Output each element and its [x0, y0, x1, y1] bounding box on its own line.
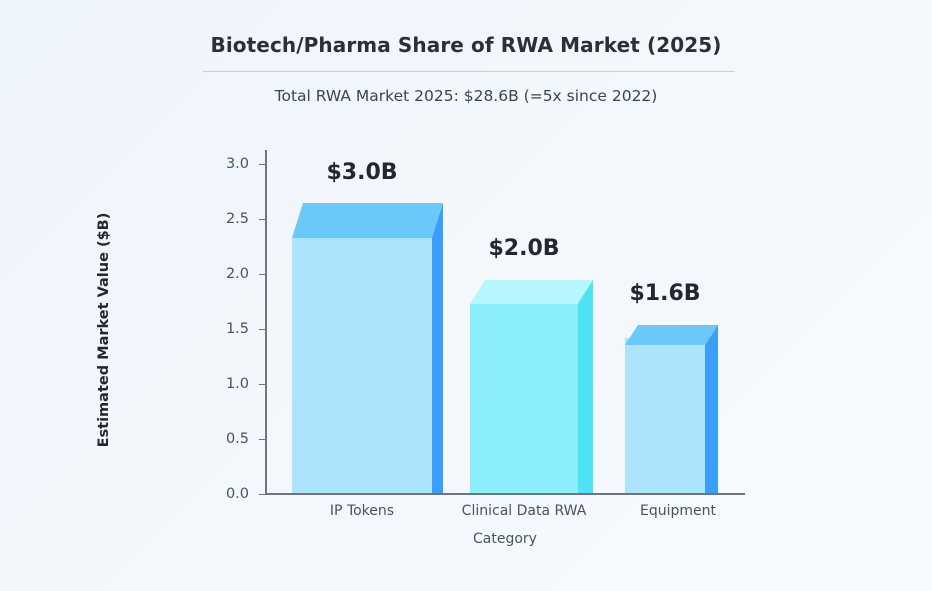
y-tick-2.5: 2.5 — [259, 219, 265, 221]
y-tick-label-0.0: 0.0 — [226, 486, 249, 502]
bar-top-face-3 — [625, 325, 718, 345]
bar-value-label-1: $3.0B — [326, 160, 397, 185]
y-axis-spine — [265, 150, 267, 494]
y-tick-1.5: 1.5 — [259, 329, 265, 331]
y-tick-label-0.5: 0.5 — [226, 431, 249, 447]
bar-side-face-2 — [578, 280, 593, 493]
bar-equipment[interactable]: $1.6B — [625, 325, 705, 493]
y-tick-label-3.0: 3.0 — [226, 156, 249, 172]
bar-value-label-2: $2.0B — [488, 236, 559, 261]
bar-ip-tokens[interactable]: $3.0B — [292, 203, 432, 493]
chart-title: Biotech/Pharma Share of RWA Market (2025… — [0, 33, 932, 57]
bar-clinical-data-rwa[interactable]: $2.0B — [470, 280, 578, 493]
y-tick-1.0: 1.0 — [259, 384, 265, 386]
y-tick-label-2.0: 2.0 — [226, 266, 249, 282]
category-label-equipment: Equipment — [640, 502, 716, 521]
x-axis-spine — [265, 493, 745, 495]
bar-value-label-3: $1.6B — [629, 281, 700, 306]
y-tick-2.0: 2.0 — [259, 274, 265, 276]
y-tick-label-2.5: 2.5 — [226, 211, 249, 227]
title-divider — [203, 71, 735, 72]
y-tick-0.5: 0.5 — [259, 439, 265, 441]
bar-front-face-2 — [470, 304, 578, 493]
bar-top-face-2 — [470, 280, 593, 304]
chart-figure: Biotech/Pharma Share of RWA Market (2025… — [0, 0, 932, 591]
y-tick-label-1.0: 1.0 — [226, 376, 249, 392]
chart-subtitle: Total RWA Market 2025: $28.6B (=5x since… — [0, 87, 932, 105]
plot-area: 3.0 2.5 2.0 1.5 1.0 0.5 0.0 $3.0B IP Tok… — [265, 150, 745, 494]
bar-side-face-3 — [705, 325, 718, 493]
y-axis-label: Estimated Market Value ($B) — [96, 165, 112, 495]
bar-front-face-1 — [292, 238, 432, 493]
y-tick-3.0: 3.0 — [259, 164, 265, 166]
bar-front-face-3 — [625, 338, 705, 493]
bar-top-face-1 — [292, 203, 443, 238]
category-label-clinical-data-rwa: Clinical Data RWA — [462, 502, 587, 521]
y-tick-label-1.5: 1.5 — [226, 321, 249, 337]
category-label-ip-tokens: IP Tokens — [330, 502, 394, 521]
x-axis-label: Category — [265, 531, 745, 547]
bar-side-face-1 — [432, 203, 443, 493]
y-tick-0.0: 0.0 — [259, 494, 265, 496]
